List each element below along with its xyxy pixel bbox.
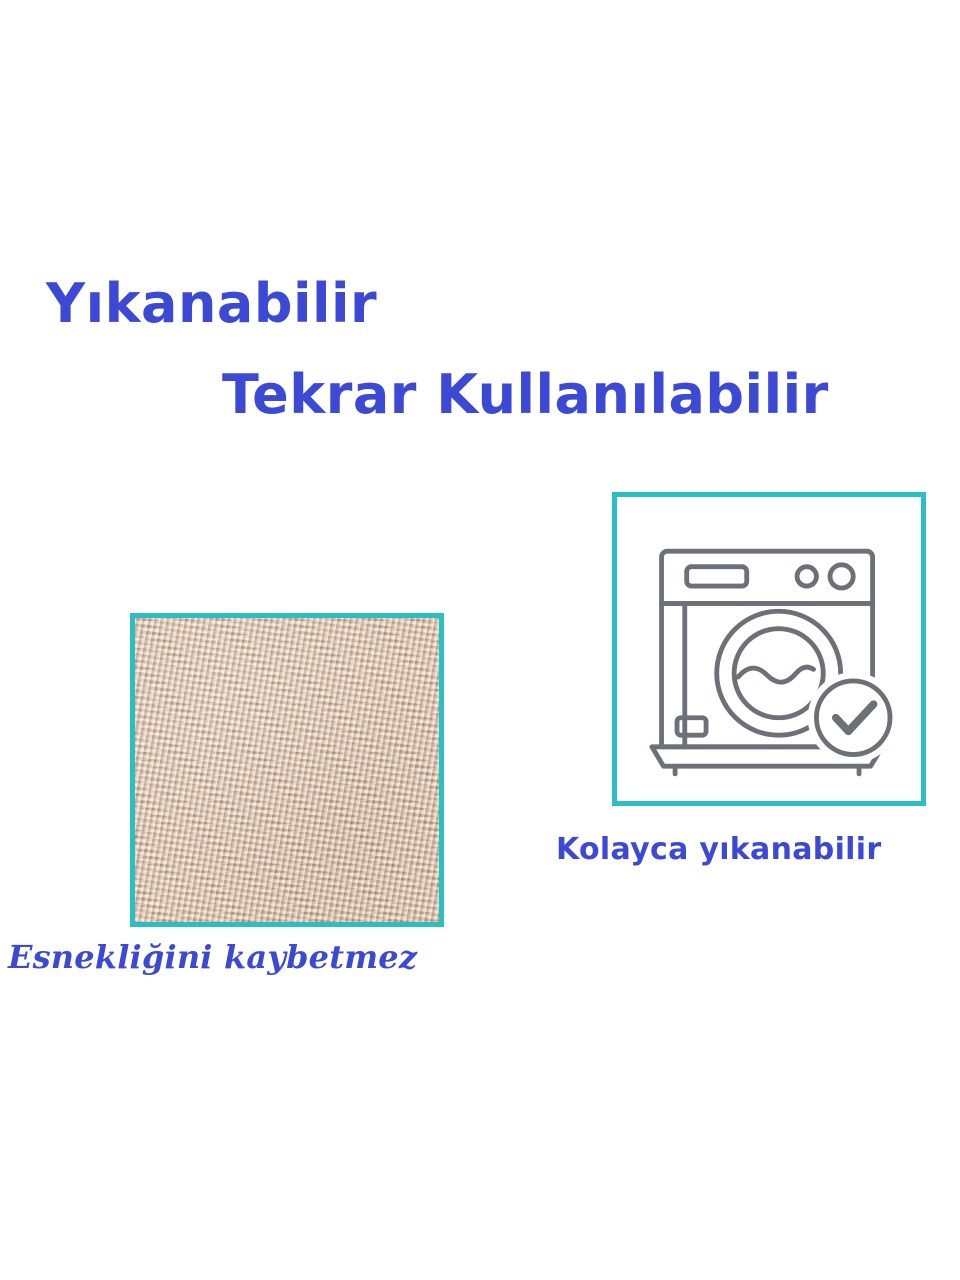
fabric-texture-overlay <box>135 618 439 922</box>
headline-line-1: Yıkanabilir <box>0 276 960 331</box>
check-circle-icon <box>813 677 894 758</box>
washing-machine-icon <box>617 497 921 801</box>
washer-icon-card <box>612 492 926 806</box>
washer-caption: Kolayca yıkanabilir <box>556 832 960 867</box>
promo-image-canvas: Yıkanabilir Tekrar Kullanılabilir <box>0 0 960 1280</box>
headline-line-2: Tekrar Kullanılabilir <box>0 367 960 422</box>
fabric-swatch-card <box>130 613 444 927</box>
fabric-caption: Esnekliğini kaybetmez <box>8 938 528 976</box>
headline-block: Yıkanabilir Tekrar Kullanılabilir <box>0 276 960 422</box>
